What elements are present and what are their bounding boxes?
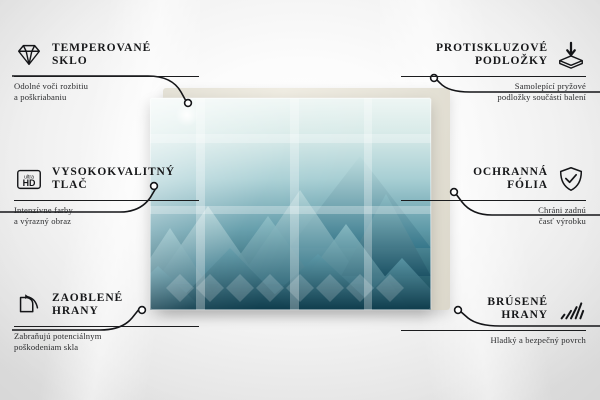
feature-title: BRÚSENÉ HRANY [487,296,548,323]
divider [14,200,199,201]
feature-subtitle-line1: Intenzívne farby [14,205,199,216]
feature-header: PROTISKLUZOVÉ PODLOŽKY [401,38,586,72]
feature-subtitle-line2: podložky součástí balení [401,92,586,103]
feature-subtitle-line2: časť výrobku [401,216,586,227]
feature-tempered-glass: TEMPEROVANÉ SKLO Odolné voči rozbitiu a … [14,38,199,103]
shield-check-icon [556,164,586,194]
press-pad-icon [556,40,586,70]
feature-title: TEMPEROVANÉ SKLO [52,42,151,69]
svg-text:HD: HD [23,178,36,188]
feature-title: ZAOBLENÉ HRANY [52,292,123,319]
feature-subtitle-line1: Chráni zadnú [401,205,586,216]
feature-header: OCHRANNÁ FÓLIA [401,162,586,196]
rounded-corner-icon [14,290,44,320]
feature-header: TEMPEROVANÉ SKLO [14,38,199,72]
feature-high-quality-print: ultra HD VYSOKOKVALITNÝ TLAČ Intenzívne … [14,162,199,227]
feature-subtitle-line1: Odolné voči rozbitiu [14,81,199,92]
feature-subtitle-line2: a výrazný obraz [14,216,199,227]
feature-subtitle-line2: a poškriabaniu [14,92,199,103]
divider [401,330,586,331]
divider [401,76,586,77]
feature-title: OCHRANNÁ FÓLIA [473,166,548,193]
ultra-hd-badge-icon: ultra HD [14,164,44,194]
feature-header: BRÚSENÉ HRANY [401,292,586,326]
feature-title: VYSOKOKVALITNÝ TLAČ [52,166,175,193]
feature-title: PROTISKLUZOVÉ PODLOŽKY [436,42,548,69]
divider [401,200,586,201]
divider [14,326,199,327]
feature-subtitle-line1: Hladký a bezpečný povrch [401,335,586,346]
feature-subtitle-line1: Samolepící pryžové [401,81,586,92]
feature-header: ZAOBLENÉ HRANY [14,288,199,322]
feature-subtitle-line2: poškodeniam skla [14,342,199,353]
hatched-edge-icon [556,294,586,324]
diamond-icon [14,40,44,70]
feature-protective-film: OCHRANNÁ FÓLIA Chráni zadnú časť výrobku [401,162,586,227]
feature-polished-edges: BRÚSENÉ HRANY Hladký a bezpečný povrch [401,292,586,346]
feature-rounded-edges: ZAOBLENÉ HRANY Zabraňujú potenciálnym po… [14,288,199,353]
feature-subtitle-line1: Zabraňujú potenciálnym [14,331,199,342]
divider [14,76,199,77]
feature-antislip-pads: PROTISKLUZOVÉ PODLOŽKY Samolepící pryžov… [401,38,586,103]
infographic-canvas: TEMPEROVANÉ SKLO Odolné voči rozbitiu a … [0,0,600,400]
feature-header: ultra HD VYSOKOKVALITNÝ TLAČ [14,162,199,196]
